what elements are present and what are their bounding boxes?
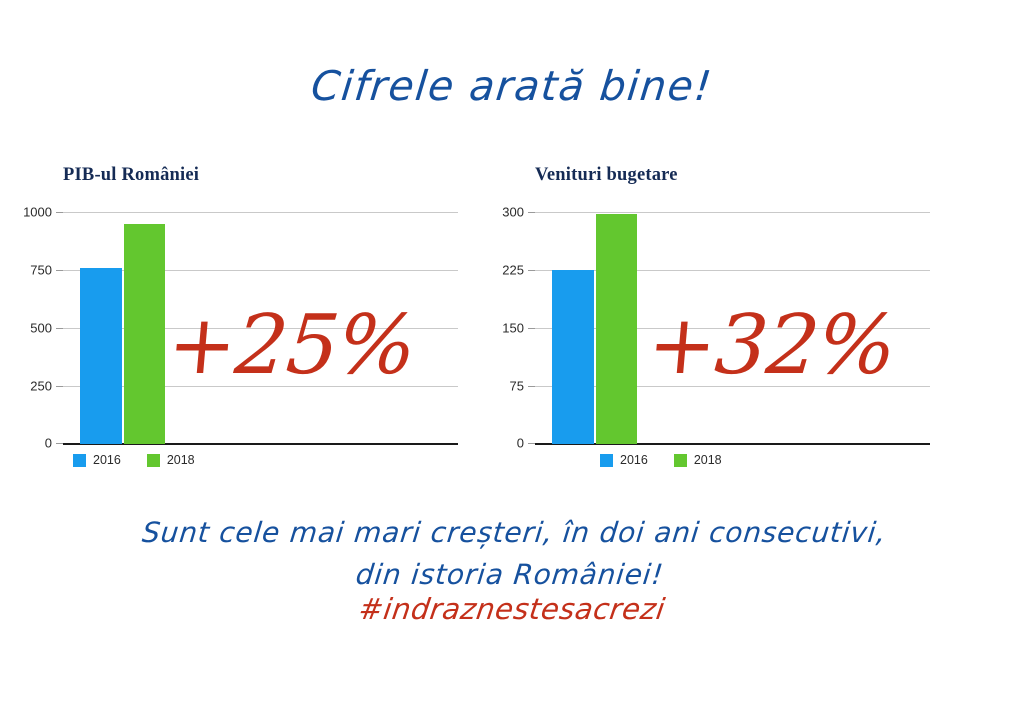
page-title: Cifrele arată bine! bbox=[0, 62, 1024, 110]
legend-label: 2018 bbox=[694, 453, 722, 467]
chart-legend: 2016 2018 bbox=[600, 453, 960, 467]
tick-mark bbox=[56, 212, 63, 213]
y-tick-label: 300 bbox=[502, 205, 524, 220]
legend-swatch-green bbox=[674, 454, 687, 467]
y-tick-label: 750 bbox=[30, 263, 52, 278]
caption: Sunt cele mai mari creșteri, în doi ani … bbox=[0, 512, 1024, 596]
y-tick-label: 0 bbox=[517, 436, 524, 451]
bar-2016 bbox=[80, 268, 122, 444]
y-tick-label: 500 bbox=[30, 321, 52, 336]
legend-label: 2016 bbox=[620, 453, 648, 467]
growth-annotation-pib: +25% bbox=[164, 298, 419, 393]
chart-title: PIB-ul României bbox=[63, 165, 488, 186]
growth-annotation-venituri: +32% bbox=[644, 298, 899, 393]
y-tick-label: 150 bbox=[502, 321, 524, 336]
legend-label: 2016 bbox=[93, 453, 121, 467]
gridline: 1000 bbox=[63, 212, 458, 213]
chart-title: Venituri bugetare bbox=[535, 165, 960, 186]
y-tick-label: 225 bbox=[502, 263, 524, 278]
gridline: 225 bbox=[535, 270, 930, 271]
y-tick-label: 75 bbox=[510, 379, 524, 394]
chart-legend: 2016 2018 bbox=[73, 453, 488, 467]
legend-item-2018: 2018 bbox=[674, 453, 722, 467]
legend-item-2018: 2018 bbox=[147, 453, 195, 467]
legend-swatch-blue bbox=[73, 454, 86, 467]
tick-mark bbox=[56, 443, 63, 444]
gridline: 300 bbox=[535, 212, 930, 213]
legend-item-2016: 2016 bbox=[600, 453, 648, 467]
legend-swatch-green bbox=[147, 454, 160, 467]
tick-mark bbox=[528, 270, 535, 271]
tick-mark bbox=[528, 328, 535, 329]
y-tick-label: 0 bbox=[45, 436, 52, 451]
legend-item-2016: 2016 bbox=[73, 453, 121, 467]
tick-mark bbox=[528, 386, 535, 387]
legend-label: 2018 bbox=[167, 453, 195, 467]
bar-2016 bbox=[552, 270, 594, 444]
bar-2018 bbox=[124, 224, 165, 444]
hashtag: #indraznestesacrezi bbox=[0, 592, 1024, 626]
caption-line-2: din istoria României! bbox=[0, 554, 1024, 596]
tick-mark bbox=[56, 328, 63, 329]
gridline: 750 bbox=[63, 270, 458, 271]
x-axis-line: 0 bbox=[63, 443, 458, 445]
y-tick-label: 250 bbox=[30, 379, 52, 394]
legend-swatch-blue bbox=[600, 454, 613, 467]
caption-line-1: Sunt cele mai mari creșteri, în doi ani … bbox=[141, 516, 888, 549]
bar-2018 bbox=[596, 214, 637, 444]
x-axis-line: 0 bbox=[535, 443, 930, 445]
tick-mark bbox=[528, 212, 535, 213]
tick-mark bbox=[528, 443, 535, 444]
tick-mark bbox=[56, 270, 63, 271]
tick-mark bbox=[56, 386, 63, 387]
y-tick-label: 1000 bbox=[23, 205, 52, 220]
